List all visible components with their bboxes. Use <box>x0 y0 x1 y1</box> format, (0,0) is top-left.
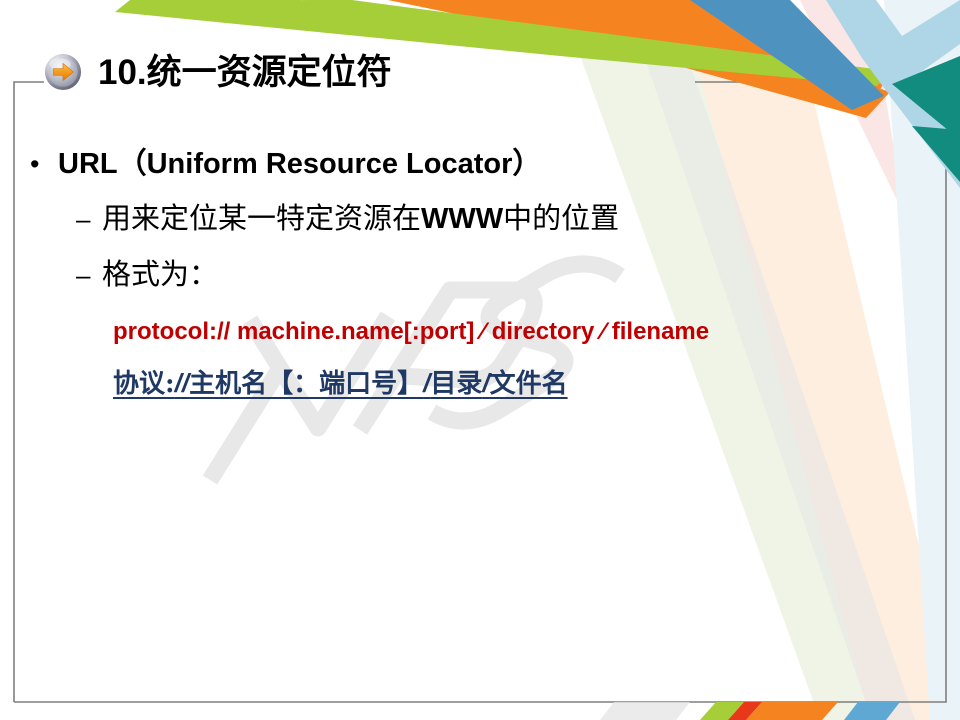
sub-bullet-marker: – <box>76 206 102 232</box>
sub-bullet-item-resource: – 用来定位某一特定资源在WWW中的位置 <box>76 204 619 234</box>
url-part-slashes: // <box>175 368 189 398</box>
url-part-filename: 文件名 <box>490 369 568 399</box>
url-part-sep2: / <box>482 368 489 398</box>
resource-text-www: WWW <box>421 203 503 235</box>
protocol-format-text: protocol:// machine.name[:port] ∕ direct… <box>113 320 709 344</box>
sub-bullet-text-format: 格式为： <box>102 260 218 289</box>
sub-bullet-item-format: – 格式为： <box>76 260 218 289</box>
arrow-right-circle-icon <box>44 53 82 91</box>
chinese-url-format-text[interactable]: 协议://主机名【：端口号】/目录/文件名 <box>113 370 568 397</box>
url-part-directory: 目录 <box>430 369 482 399</box>
sub-bullet-text-resource: 用来定位某一特定资源在WWW中的位置 <box>102 204 619 234</box>
bullet-marker: • <box>30 151 58 178</box>
page-title: 10.统一资源定位符 <box>98 55 392 90</box>
resource-text-pre: 用来定位某一特定资源在 <box>102 201 421 235</box>
bullet-text-url: URL（Uniform Resource Locator） <box>58 150 541 179</box>
url-part-host: 主机名【：端口号】 <box>189 369 423 399</box>
slide-content: • URL（Uniform Resource Locator） – 用来定位某一… <box>14 82 946 702</box>
resource-text-post: 中的位置 <box>503 201 619 235</box>
sub-bullet-marker: – <box>76 262 102 288</box>
slide-title-bar: 10.统一资源定位符 <box>44 44 392 100</box>
url-part-protocol: 协议: <box>113 369 175 399</box>
slide-canvas: 10.统一资源定位符 • URL（Uniform Resource Locato… <box>0 0 960 720</box>
bullet-item-url: • URL（Uniform Resource Locator） <box>30 150 541 179</box>
